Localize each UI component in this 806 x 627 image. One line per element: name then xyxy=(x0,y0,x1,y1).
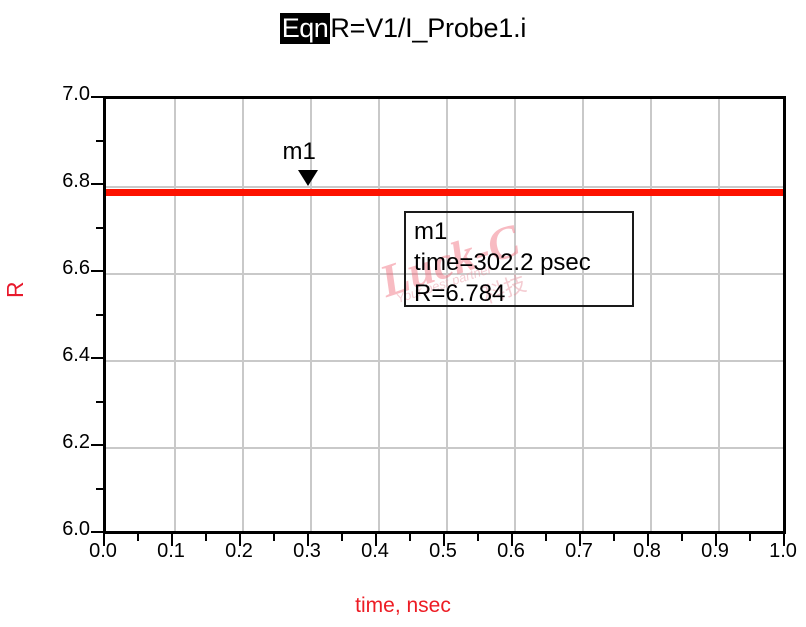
y-tick-label: 6.4 xyxy=(32,344,90,367)
marker-readout-line-2: time=302.2 psec xyxy=(414,247,632,278)
y-tick-minor xyxy=(96,140,104,142)
x-tick-minor xyxy=(273,533,275,541)
y-tick-major xyxy=(91,444,104,446)
y-tick-label: 6.6 xyxy=(32,257,90,280)
y-tick-minor xyxy=(96,401,104,403)
x-tick-minor xyxy=(681,533,683,541)
marker-readout-line-1: m1 xyxy=(414,216,632,247)
marker-arrow-icon xyxy=(298,170,318,186)
y-tick-major xyxy=(91,531,104,533)
marker-layer xyxy=(106,99,783,531)
x-tick-minor xyxy=(205,533,207,541)
y-tick-label: 6.2 xyxy=(32,431,90,454)
plot-area xyxy=(103,96,786,534)
x-tick-label: 0.6 xyxy=(481,540,541,563)
chart-title: EqnR=V1/I_Probe1.i xyxy=(0,13,806,43)
marker-readout-line-3: R=6.784 xyxy=(414,278,632,309)
x-tick-label: 0.9 xyxy=(685,540,745,563)
x-tick-minor xyxy=(749,533,751,541)
x-tick-label: 1.0 xyxy=(753,540,806,563)
x-tick-label: 0.4 xyxy=(345,540,405,563)
x-tick-minor xyxy=(409,533,411,541)
y-tick-minor xyxy=(96,314,104,316)
x-tick-minor xyxy=(613,533,615,541)
y-tick-label: 7.0 xyxy=(32,83,90,106)
y-tick-major xyxy=(91,270,104,272)
x-tick-minor xyxy=(545,533,547,541)
y-tick-minor xyxy=(96,488,104,490)
x-tick-minor xyxy=(341,533,343,541)
x-tick-label: 0.1 xyxy=(141,540,201,563)
y-axis-title: R xyxy=(2,281,29,298)
marker-m1-label: m1 xyxy=(282,138,315,166)
x-tick-label: 0.0 xyxy=(73,540,133,563)
x-axis-title: time, nsec xyxy=(0,594,806,618)
y-tick-label: 6.8 xyxy=(32,170,90,193)
x-tick-minor xyxy=(137,533,139,541)
y-tick-major xyxy=(91,357,104,359)
marker-readout-box[interactable]: m1 time=302.2 psec R=6.784 xyxy=(404,211,634,307)
x-tick-label: 0.7 xyxy=(549,540,609,563)
x-tick-minor xyxy=(477,533,479,541)
x-tick-label: 0.3 xyxy=(277,540,337,563)
y-tick-minor xyxy=(96,227,104,229)
y-tick-major xyxy=(91,183,104,185)
x-tick-label: 0.2 xyxy=(209,540,269,563)
x-tick-label: 0.8 xyxy=(617,540,677,563)
eqn-expression: R=V1/I_Probe1.i xyxy=(330,13,526,43)
y-tick-label: 6.0 xyxy=(32,518,90,541)
y-tick-major xyxy=(91,96,104,98)
eqn-badge: Eqn xyxy=(280,13,331,44)
x-tick-label: 0.5 xyxy=(413,540,473,563)
